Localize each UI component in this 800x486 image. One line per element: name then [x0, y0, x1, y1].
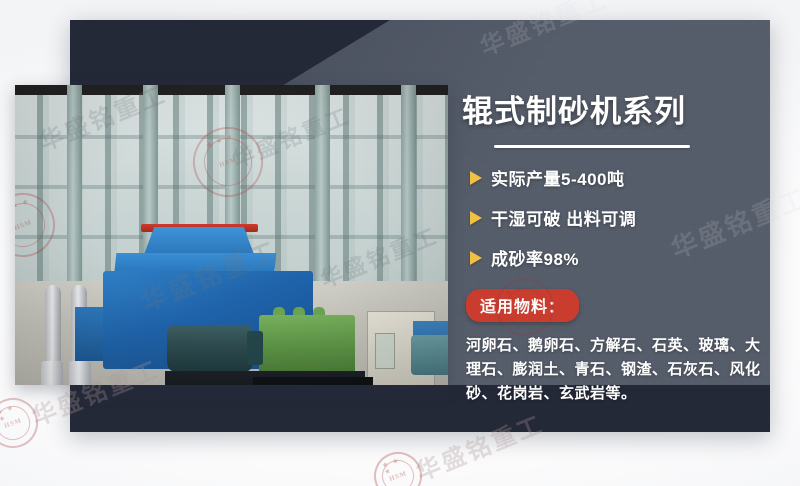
title-divider [494, 145, 690, 148]
photo-vignette [15, 85, 448, 385]
product-title: 辊式制砂机系列 [462, 92, 762, 132]
materials-badge: 适用物料： [466, 289, 579, 322]
feature-item: 实际产量5-400吨 [462, 165, 762, 190]
arrow-bullet-icon [470, 211, 482, 225]
feature-item: 成砂率98% [462, 245, 762, 270]
feature-label: 成砂率98% [491, 245, 579, 270]
arrow-bullet-icon [470, 251, 482, 265]
materials-text: 河卵石、鹅卵石、方解石、石英、玻璃、大理石、膨润土、青石、钢渣、石灰石、风化砂、… [466, 334, 764, 406]
product-info-column: 辊式制砂机系列 实际产量5-400吨 干湿可破 出料可调 成砂率98% 适用物料… [462, 92, 762, 406]
arrow-bullet-icon [470, 171, 482, 185]
feature-item: 干湿可破 出料可调 [462, 205, 762, 230]
promo-banner: 华盛铭重工 华盛铭重工 华盛铭重工 华盛铭重工 ★ ★ ★ HSM ★ ★ ★ … [0, 0, 800, 486]
feature-list: 实际产量5-400吨 干湿可破 出料可调 成砂率98% [462, 165, 762, 270]
product-photo: 华盛铭重工 华盛铭重工 华盛铭重工 华盛铭重工 ★ ★ ★ HSM ★ ★ ★ … [15, 85, 448, 385]
feature-label: 实际产量5-400吨 [491, 165, 624, 190]
feature-label: 干湿可破 出料可调 [491, 205, 636, 230]
